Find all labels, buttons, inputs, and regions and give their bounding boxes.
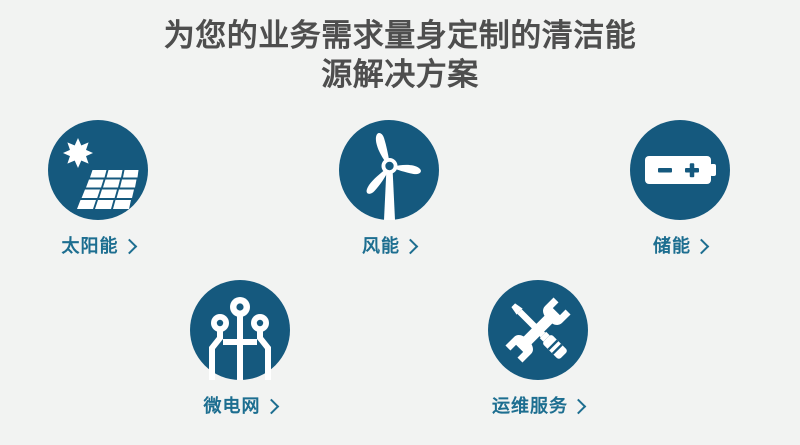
service-label-text: 风能 xyxy=(362,232,400,258)
service-item-solar[interactable]: 太阳能 xyxy=(8,120,188,258)
service-label-microgrid[interactable]: 微电网 xyxy=(150,392,330,418)
battery-icon xyxy=(630,120,730,220)
promo-banner: 为您的业务需求量身定制的清洁能 源解决方案 xyxy=(0,0,800,445)
service-label-text: 运维服务 xyxy=(492,392,568,418)
service-label-solar[interactable]: 太阳能 xyxy=(8,232,188,258)
service-label-text: 储能 xyxy=(653,232,691,258)
service-label-om[interactable]: 运维服务 xyxy=(448,392,628,418)
service-item-storage[interactable]: 储能 xyxy=(590,120,770,258)
wrench-screwdriver-icon xyxy=(488,280,588,380)
microgrid-circuit-icon xyxy=(190,280,290,380)
wind-turbine-icon-badge xyxy=(339,120,439,220)
battery-icon-badge xyxy=(630,120,730,220)
service-label-wind[interactable]: 风能 xyxy=(299,232,479,258)
service-item-wind[interactable]: 风能 xyxy=(299,120,479,258)
microgrid-circuit-icon-badge xyxy=(190,280,290,380)
chevron-right-icon xyxy=(121,238,137,254)
solar-panel-icon-badge xyxy=(48,120,148,220)
chevron-right-icon xyxy=(263,398,279,414)
wrench-screwdriver-icon-badge xyxy=(488,280,588,380)
service-label-text: 太阳能 xyxy=(62,232,119,258)
chevron-right-icon xyxy=(403,238,419,254)
wind-turbine-icon xyxy=(339,120,439,220)
plus-sign-v xyxy=(690,163,695,177)
page-title: 为您的业务需求量身定制的清洁能 源解决方案 xyxy=(0,16,800,94)
service-label-storage[interactable]: 储能 xyxy=(590,232,770,258)
service-item-microgrid[interactable]: 微电网 xyxy=(150,280,330,418)
service-item-om[interactable]: 运维服务 xyxy=(448,280,628,418)
service-label-text: 微电网 xyxy=(204,392,261,418)
solar-panel-icon xyxy=(48,120,148,220)
chevron-right-icon xyxy=(571,398,587,414)
minus-sign xyxy=(658,168,672,173)
chevron-right-icon xyxy=(694,238,710,254)
